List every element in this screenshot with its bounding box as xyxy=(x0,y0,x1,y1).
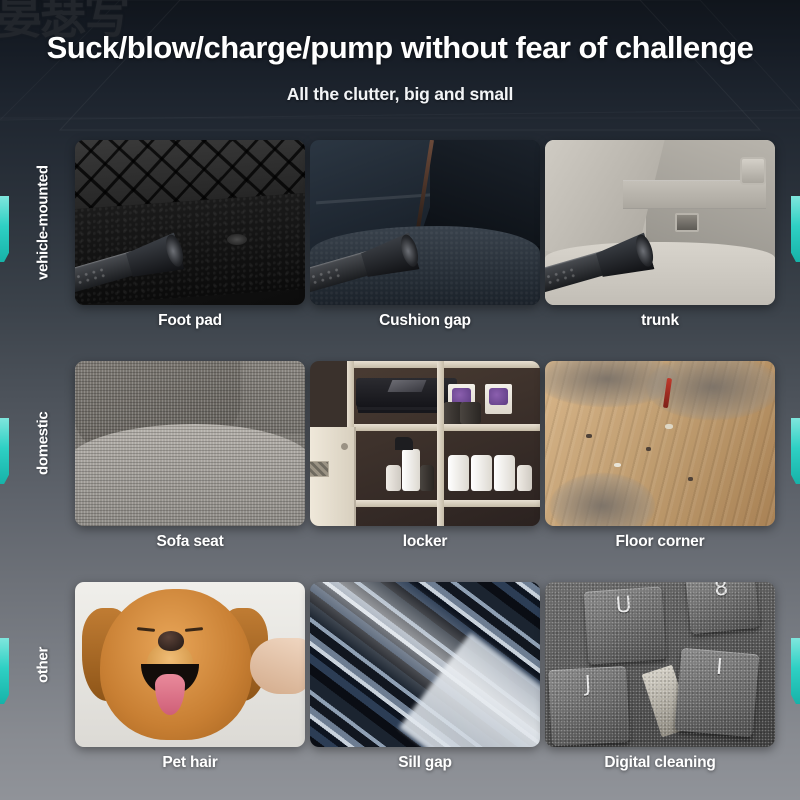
tile-caption-floor-corner: Floor corner xyxy=(545,533,775,551)
tile-caption-digital-cleaning: Digital cleaning xyxy=(545,754,775,772)
thumbnail-pet-hair xyxy=(75,582,305,747)
tile-caption-cushion-gap: Cushion gap xyxy=(310,312,540,330)
image-tile-trunk[interactable] xyxy=(545,140,775,305)
tile-caption-pet-hair: Pet hair xyxy=(75,754,305,772)
row-label-other: other xyxy=(28,582,58,747)
door-plate-icon xyxy=(310,461,329,478)
header: Suck/blow/charge/pump without fear of ch… xyxy=(0,0,800,105)
white-bottle-3 xyxy=(494,455,515,491)
tile-caption-foot-pad: Foot pad xyxy=(75,312,305,330)
dark-bottle-2 xyxy=(460,402,481,424)
category-row-vehicle-mounted: vehicle-mounted xyxy=(0,140,800,361)
image-tile-locker[interactable] xyxy=(310,361,540,526)
thumbnail-trunk xyxy=(545,140,775,305)
dog-tongue-shape xyxy=(155,674,185,715)
debris-1 xyxy=(586,434,592,438)
image-tile-sill-gap[interactable] xyxy=(310,582,540,747)
page-title: Suck/blow/charge/pump without fear of ch… xyxy=(0,30,800,66)
tile-caption-locker: locker xyxy=(310,533,540,551)
white-bottle-1 xyxy=(448,455,469,491)
thumbnail-sofa-seat xyxy=(75,361,305,526)
human-hand-shape xyxy=(250,638,305,694)
tile-group: Foot pad Cushion gap trunk xyxy=(75,140,775,305)
door-knob-icon xyxy=(341,443,348,450)
thumbnail-cushion-gap xyxy=(310,140,540,305)
shelf-divider-vertical xyxy=(437,361,444,526)
locker-door[interactable] xyxy=(310,427,356,526)
trunk-vent-icon xyxy=(740,157,766,185)
image-tile-sofa-seat[interactable] xyxy=(75,361,305,526)
dark-canister xyxy=(420,465,434,491)
debris-4 xyxy=(614,463,621,467)
spray-bottle-icon xyxy=(402,449,420,491)
dog-nose-icon xyxy=(158,631,184,651)
sill-sheen-overlay xyxy=(310,582,540,747)
page-subtitle: All the clutter, big and small xyxy=(0,84,800,105)
thumbnail-floor-corner xyxy=(545,361,775,526)
small-bottle xyxy=(386,465,401,491)
mat-stud-shape xyxy=(227,234,247,245)
thumbnail-digital-cleaning: 8 U J I xyxy=(545,582,775,747)
thumbnail-locker xyxy=(310,361,540,526)
white-bottle-4 xyxy=(517,465,532,491)
image-tile-floor-corner[interactable] xyxy=(545,361,775,526)
debris-2 xyxy=(646,447,651,451)
thumbnail-sill-gap xyxy=(310,582,540,747)
trunk-socket-icon xyxy=(675,213,699,232)
thumbnail-foot-pad xyxy=(75,140,305,305)
category-row-other: other xyxy=(0,582,800,800)
dog-eye-left xyxy=(137,627,155,632)
row-label-vehicle-mounted: vehicle-mounted xyxy=(28,140,58,305)
tile-group: Sofa seat locker Floor corner xyxy=(75,361,775,526)
dust-clump-3 xyxy=(550,473,656,526)
tile-caption-sill-gap: Sill gap xyxy=(310,754,540,772)
debris-5 xyxy=(665,424,673,429)
box-item-2 xyxy=(485,384,512,414)
fabric-weave-texture xyxy=(75,361,305,526)
image-tile-digital-cleaning[interactable]: 8 U J I xyxy=(545,582,775,747)
dust-noise-overlay xyxy=(545,582,775,747)
image-tile-foot-pad[interactable] xyxy=(75,140,305,305)
tile-group: 8 U J I Pet hair Sill gap Digital cleani… xyxy=(75,582,775,747)
image-tile-cushion-gap[interactable] xyxy=(310,140,540,305)
tile-caption-trunk: trunk xyxy=(545,312,775,330)
tile-caption-sofa-seat: Sofa seat xyxy=(75,533,305,551)
image-tile-pet-hair[interactable] xyxy=(75,582,305,747)
category-row-domestic: domestic xyxy=(0,361,800,582)
debris-3 xyxy=(688,477,693,481)
white-bottle-2 xyxy=(471,455,492,491)
dog-head-shape xyxy=(100,589,252,741)
dog-eye-right xyxy=(185,627,203,632)
row-label-domestic: domestic xyxy=(28,361,58,526)
category-grid: vehicle-mounted xyxy=(0,140,800,800)
